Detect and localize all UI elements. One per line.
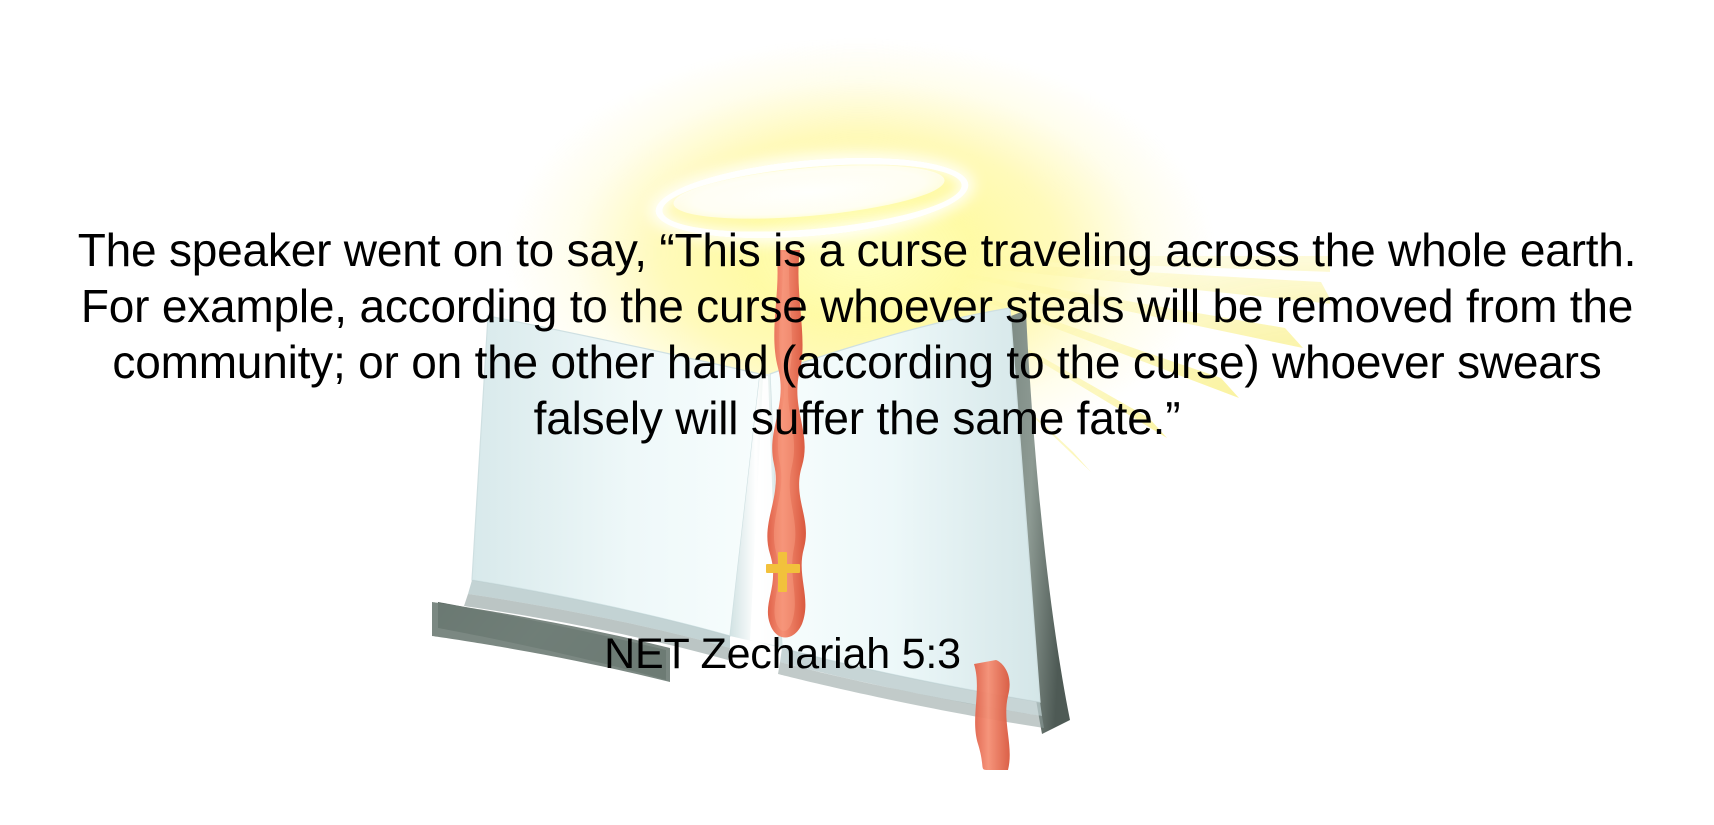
verse-citation: NET Zechariah 5:3 [0,628,1565,680]
text-layer: The speaker went on to say, “This is a c… [0,0,1714,825]
verse-text: The speaker went on to say, “This is a c… [50,222,1664,446]
slide-canvas: The speaker went on to say, “This is a c… [0,0,1714,825]
